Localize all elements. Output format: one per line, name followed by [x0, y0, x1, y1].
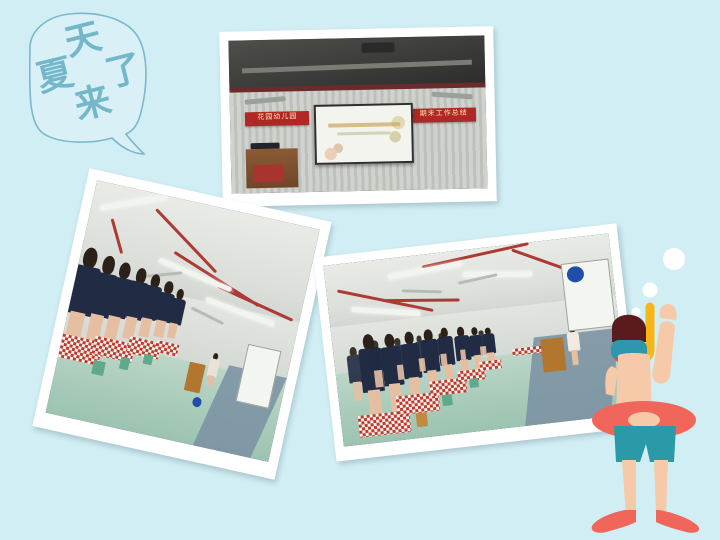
- hair: [612, 315, 646, 342]
- bubble-icon: [643, 283, 658, 298]
- hall-banner-left: 花园幼儿园: [245, 111, 309, 126]
- hanging-arm: [605, 366, 618, 396]
- screen-flower-left: [321, 138, 346, 161]
- leg-right: [654, 460, 668, 516]
- summer-speech-bubble: 夏 天 来 了: [8, 4, 168, 174]
- swim-fin-right: [656, 510, 699, 533]
- screen-subtitle-band: [338, 131, 391, 135]
- speaker-podium: [540, 338, 567, 373]
- swim-ring-hole: [628, 412, 660, 428]
- screen-flower-right: [386, 112, 409, 148]
- swim-shorts: [614, 426, 676, 462]
- green-stool: [469, 378, 479, 388]
- bubble-icon: [663, 248, 685, 270]
- air-bubbles-group: [632, 248, 686, 317]
- hall-banner-left-text: 花园幼儿园: [245, 113, 309, 121]
- collage-canvas: 夏 天 来 了 花园幼儿园 期末工作总结: [0, 0, 720, 540]
- raised-arm: [652, 321, 675, 383]
- snorkeling-boy-sticker: [588, 244, 720, 540]
- hall-projector: [362, 42, 395, 53]
- leg-left: [622, 460, 636, 516]
- hall-projection-screen: [314, 103, 414, 166]
- hall-podium: [246, 148, 298, 189]
- hall-banner-right: 期末工作总结: [412, 107, 476, 122]
- bubble-icon: [632, 308, 641, 317]
- swim-fin-left: [592, 510, 636, 533]
- photo-classroom-left-image: [46, 180, 320, 462]
- ceiling-fan-blade: [401, 289, 441, 293]
- raised-hand: [659, 304, 676, 320]
- photo-meeting-hall-image: 花园幼儿园 期末工作总结: [228, 35, 487, 193]
- hall-banner-right-text: 期末工作总结: [412, 109, 476, 117]
- photo-classroom-left-angle[interactable]: [32, 168, 331, 479]
- photo-classroom-right-image: [323, 233, 629, 446]
- photo-meeting-hall[interactable]: 花园幼儿园 期末工作总结: [219, 26, 497, 207]
- ceiling-pipe: [385, 298, 460, 302]
- green-stool: [415, 412, 428, 428]
- green-stool: [442, 394, 453, 406]
